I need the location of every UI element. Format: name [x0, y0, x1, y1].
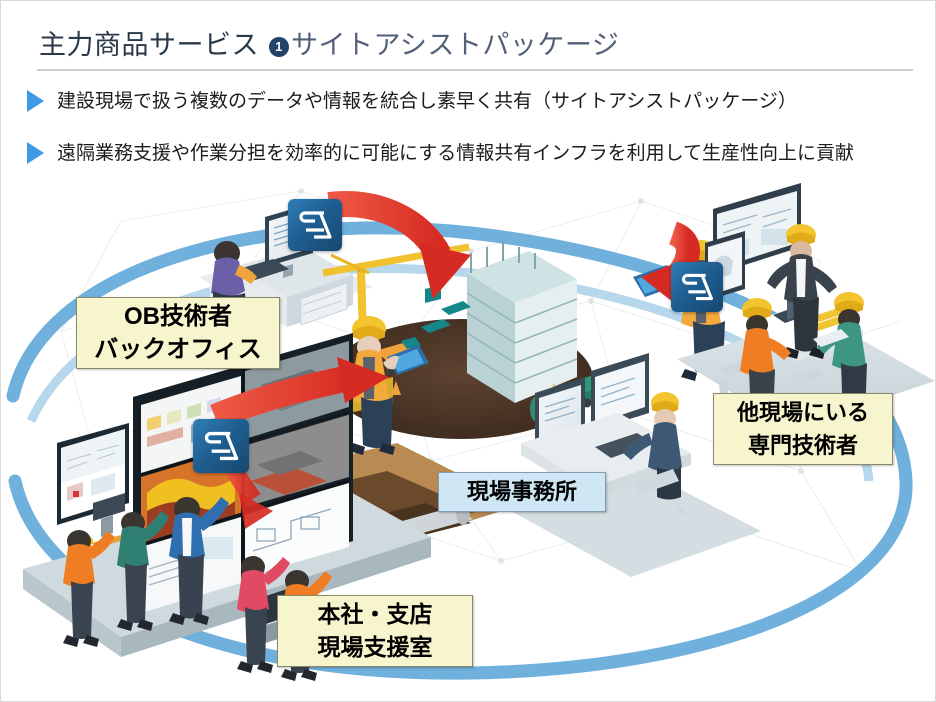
sa-logo-icon — [671, 262, 723, 312]
callout-site-office-line1: 現場事務所 — [467, 477, 577, 507]
callout-back-office-line1: OB技術者 — [124, 300, 232, 333]
callout-other-site: 他現場にいる 専門技術者 — [713, 393, 893, 465]
title-main-text: 主力商品サービス — [39, 30, 259, 60]
bullet-text-2: 遠隔業務支援や作業分担を効率的に可能にする情報共有インフラを利用して生産性向上に… — [57, 139, 854, 169]
callout-other-site-line1: 他現場にいる — [737, 396, 869, 429]
video-wall-left — [57, 423, 129, 537]
building-under-construction — [467, 242, 577, 403]
triangle-bullet-icon — [27, 90, 44, 112]
bullet-item-2: 遠隔業務支援や作業分担を効率的に可能にする情報共有インフラを利用して生産性向上に… — [27, 139, 907, 169]
page-title: 主力商品サービス1サイトアシストパッケージ — [39, 23, 909, 62]
callout-headquarters: 本社・支店 現場支援室 — [277, 595, 473, 667]
title-divider — [37, 69, 913, 71]
sa-logo-badge — [288, 199, 342, 251]
callout-back-office: OB技術者 バックオフィス — [76, 297, 280, 369]
title-number-badge: 1 — [269, 37, 289, 57]
sa-logo-icon — [288, 199, 342, 251]
slide-canvas: 主力商品サービス1サイトアシストパッケージ 建設現場で扱う複数のデータや情報を統… — [0, 0, 936, 702]
triangle-bullet-icon — [27, 142, 44, 164]
callout-other-site-line2: 専門技術者 — [748, 429, 858, 462]
callout-headquarters-line1: 本社・支店 — [318, 598, 433, 631]
slide-header: 主力商品サービス1サイトアシストパッケージ — [39, 23, 909, 67]
sa-logo-icon — [193, 419, 249, 473]
callout-back-office-line2: バックオフィス — [94, 333, 262, 366]
bullet-item-1: 建設現場で扱う複数のデータや情報を統合し素早く共有（サイトアシストパッケージ） — [27, 87, 927, 117]
callout-site-office: 現場事務所 — [438, 472, 606, 512]
callout-headquarters-line2: 現場支援室 — [318, 631, 433, 664]
sa-logo-badge — [193, 419, 249, 473]
bullet-text-1: 建設現場で扱う複数のデータや情報を統合し素早く共有（サイトアシストパッケージ） — [57, 87, 797, 117]
title-sub-text: サイトアシストパッケージ — [291, 30, 619, 60]
sa-logo-badge — [671, 262, 723, 312]
